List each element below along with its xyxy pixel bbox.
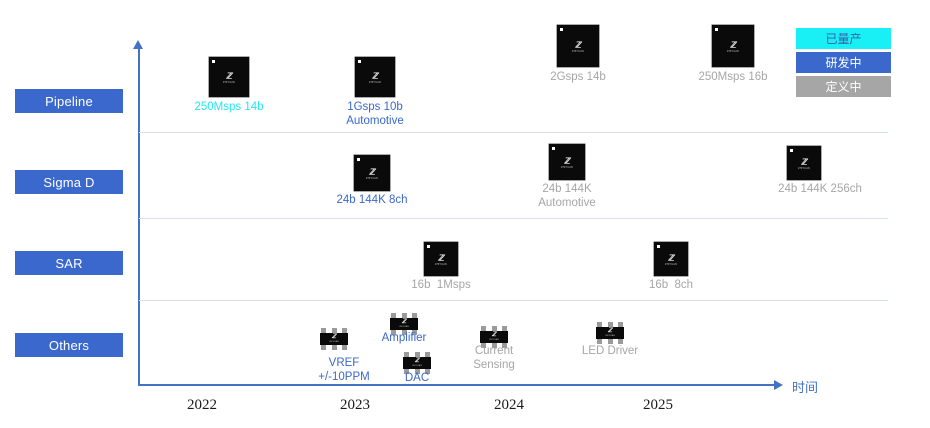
category-label-sar[interactable]: SAR xyxy=(15,251,123,275)
year-tick-2024: 2024 xyxy=(494,397,524,414)
row-divider-sar xyxy=(139,300,888,301)
package-body: ℤ ZHIYUAN xyxy=(596,327,624,339)
product-label: 250Msps 16b xyxy=(698,71,767,85)
pin1-marker-icon xyxy=(790,149,793,152)
vendor-logo-text: ZHIYUAN xyxy=(209,81,249,84)
y-axis-arrow-icon xyxy=(133,40,143,49)
vendor-logo-icon: ℤ xyxy=(390,319,418,325)
vendor-logo-icon: ℤ xyxy=(424,254,458,262)
product-label: Amplifier xyxy=(382,332,427,346)
chip-package-icon: ℤ ZHIYUAN xyxy=(424,242,458,276)
vendor-logo-text: ZHIYUAN xyxy=(787,167,821,170)
vendor-logo-text: ZHIYUAN xyxy=(549,166,585,169)
year-tick-2023: 2023 xyxy=(340,397,370,414)
vendor-logo-icon: ℤ xyxy=(403,358,431,364)
product-label: 16b 8ch xyxy=(649,279,693,293)
vendor-logo-icon: ℤ xyxy=(549,157,585,165)
vendor-logo-text: ZHIYUAN xyxy=(354,177,390,180)
chip-package-icon: ℤ ZHIYUAN xyxy=(354,155,390,191)
legend-item-produced[interactable]: 已量产 xyxy=(796,28,891,49)
pin-icon xyxy=(321,345,326,350)
y-axis-line xyxy=(138,48,140,385)
legend-item-defining[interactable]: 定义中 xyxy=(796,76,891,97)
vendor-logo-icon: ℤ xyxy=(354,168,390,176)
package-body: ℤ ZHIYUAN xyxy=(403,357,431,369)
chip-package-icon: ℤ ZHIYUAN xyxy=(712,25,754,67)
pin-icon xyxy=(342,345,347,350)
pin1-marker-icon xyxy=(427,245,430,248)
row-divider-pipeline xyxy=(139,132,888,133)
chip-package-icon: ℤ ZHIYUAN xyxy=(557,25,599,67)
chip-package-icon: ℤ ZHIYUAN xyxy=(355,57,395,97)
chip-package-icon: ℤ ZHIYUAN xyxy=(654,242,688,276)
year-tick-2025: 2025 xyxy=(643,397,673,414)
x-axis-arrow-icon xyxy=(774,380,783,390)
vendor-logo-text: ZHIYUAN xyxy=(712,50,754,53)
product-label: Current Sensing xyxy=(473,345,515,372)
product-label: DAC xyxy=(405,372,429,386)
vendor-logo-icon: ℤ xyxy=(654,254,688,262)
legend: 已量产 研发中 定义中 xyxy=(796,28,891,100)
year-tick-2022: 2022 xyxy=(187,397,217,414)
product-label: VREF +/-10PPM xyxy=(318,357,369,384)
vendor-logo-text: ZHIYUAN xyxy=(654,263,688,266)
vendor-logo-text: ZHIYUAN xyxy=(424,263,458,266)
vendor-logo-icon: ℤ xyxy=(712,41,754,49)
product-label: 24b 144K 8ch xyxy=(337,194,408,208)
category-label-others[interactable]: Others xyxy=(15,333,123,357)
chip-package-icon: ℤ ZHIYUAN xyxy=(209,57,249,97)
product-label: 24b 144K 256ch xyxy=(778,183,862,197)
product-label: 1Gsps 10b Automotive xyxy=(346,101,404,128)
x-axis-title: 时间 xyxy=(792,377,818,396)
pin-icon xyxy=(597,339,602,344)
pin1-marker-icon xyxy=(358,60,361,63)
vendor-logo-icon: ℤ xyxy=(596,328,624,334)
sot23-package-icon: ℤ ZHIYUAN xyxy=(317,328,351,350)
pin1-marker-icon xyxy=(560,28,563,31)
chip-package-icon: ℤ ZHIYUAN xyxy=(549,144,585,180)
vendor-logo-icon: ℤ xyxy=(557,41,599,49)
product-label: 250Msps 14b xyxy=(194,101,263,115)
vendor-logo-icon: ℤ xyxy=(209,72,249,80)
product-label: 16b 1Msps xyxy=(411,279,470,293)
category-label-pipeline[interactable]: Pipeline xyxy=(15,89,123,113)
vendor-logo-text: ZHIYUAN xyxy=(320,341,348,344)
chip-package-icon: ℤ ZHIYUAN xyxy=(787,146,821,180)
product-label: LED Driver xyxy=(582,345,638,359)
pin-icon xyxy=(618,339,623,344)
sot23-package-icon: ℤ ZHIYUAN xyxy=(593,322,627,344)
pin-icon xyxy=(608,339,613,344)
package-body: ℤ ZHIYUAN xyxy=(480,331,508,343)
package-body: ℤ ZHIYUAN xyxy=(390,318,418,330)
roadmap-chart: 时间 Pipeline Sigma D SAR Others 2022 2023… xyxy=(0,0,930,428)
x-axis-line xyxy=(138,384,775,386)
vendor-logo-text: ZHIYUAN xyxy=(355,81,395,84)
pin1-marker-icon xyxy=(552,147,555,150)
pin1-marker-icon xyxy=(657,245,660,248)
row-divider-sigma-d xyxy=(139,218,888,219)
vendor-logo-text: ZHIYUAN xyxy=(596,335,624,338)
product-label: 2Gsps 14b xyxy=(550,71,606,85)
pin1-marker-icon xyxy=(715,28,718,31)
pin-icon xyxy=(332,345,337,350)
vendor-logo-icon: ℤ xyxy=(320,334,348,340)
pin1-marker-icon xyxy=(357,158,360,161)
sot23-package-icon: ℤ ZHIYUAN xyxy=(400,352,434,374)
product-label: 24b 144K Automotive xyxy=(538,183,596,210)
vendor-logo-icon: ℤ xyxy=(480,332,508,338)
vendor-logo-text: ZHIYUAN xyxy=(390,326,418,329)
vendor-logo-text: ZHIYUAN xyxy=(403,365,431,368)
vendor-logo-icon: ℤ xyxy=(787,158,821,166)
category-label-sigma-d[interactable]: Sigma D xyxy=(15,170,123,194)
legend-item-in-development[interactable]: 研发中 xyxy=(796,52,891,73)
vendor-logo-text: ZHIYUAN xyxy=(480,339,508,342)
vendor-logo-icon: ℤ xyxy=(355,72,395,80)
package-body: ℤ ZHIYUAN xyxy=(320,333,348,345)
pin1-marker-icon xyxy=(212,60,215,63)
vendor-logo-text: ZHIYUAN xyxy=(557,50,599,53)
